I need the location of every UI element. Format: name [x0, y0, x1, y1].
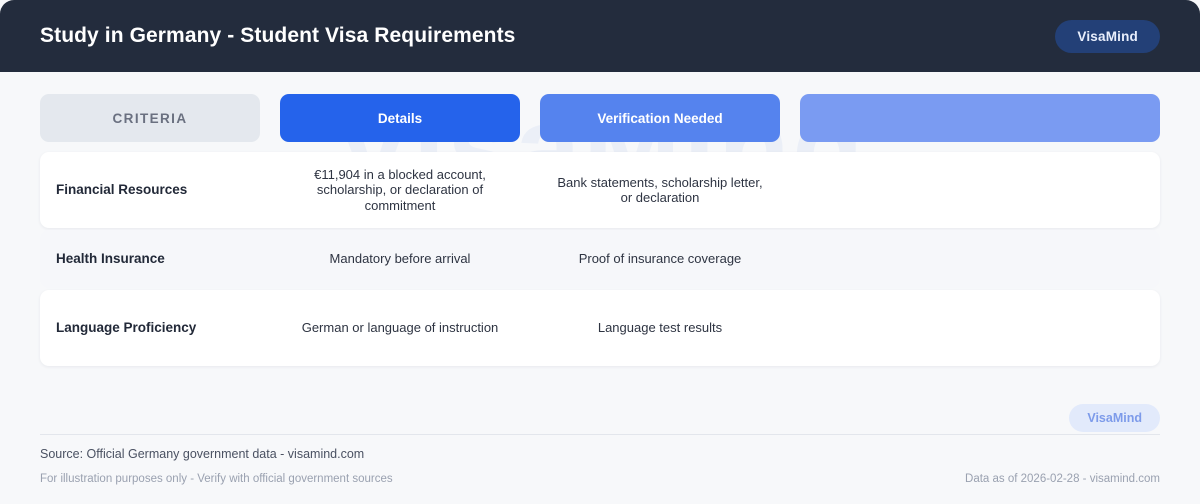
page-header: Study in Germany - Student Visa Requirem…	[0, 0, 1200, 72]
cell-extra	[800, 251, 1160, 267]
cell-extra	[800, 320, 1160, 336]
brand-badge: VisaMind	[1055, 20, 1160, 53]
cell-criteria: Health Insurance	[40, 243, 260, 275]
column-header-extra	[800, 94, 1160, 142]
column-header-verification: Verification Needed	[540, 94, 780, 142]
infographic-page: Study in Germany - Student Visa Requirem…	[0, 0, 1200, 504]
footer-date-text: Data as of 2026-02-28 - visamind.com	[965, 473, 1160, 485]
table-header-row: CRITERIA Details Verification Needed	[40, 94, 1160, 142]
footer-divider	[40, 434, 1160, 435]
cell-extra	[800, 182, 1160, 198]
column-header-criteria: CRITERIA	[40, 94, 260, 142]
footer-disclaimer-text: For illustration purposes only - Verify …	[40, 473, 393, 485]
table-row: Health Insurance Mandatory before arriva…	[40, 230, 1160, 288]
page-title: Study in Germany - Student Visa Requirem…	[40, 24, 515, 48]
cell-verification: Bank statements, scholarship letter, or …	[540, 167, 780, 214]
table-row: Language Proficiency German or language …	[40, 290, 1160, 366]
column-header-details: Details	[280, 94, 520, 142]
cell-verification: Language test results	[540, 312, 780, 343]
cell-details: Mandatory before arrival	[280, 243, 520, 274]
cell-details: €11,904 in a blocked account, scholarshi…	[280, 159, 520, 221]
cell-verification: Proof of insurance coverage	[540, 243, 780, 274]
table-body: Financial Resources €11,904 in a blocked…	[40, 152, 1160, 366]
cell-criteria: Language Proficiency	[40, 312, 260, 344]
requirements-table: CRITERIA Details Verification Needed Fin…	[40, 94, 1160, 368]
footer-brand-badge: VisaMind	[1069, 404, 1160, 432]
table-row: Financial Resources €11,904 in a blocked…	[40, 152, 1160, 228]
cell-details: German or language of instruction	[280, 312, 520, 343]
cell-criteria: Financial Resources	[40, 174, 260, 206]
footer-source-text: Source: Official Germany government data…	[40, 447, 364, 461]
